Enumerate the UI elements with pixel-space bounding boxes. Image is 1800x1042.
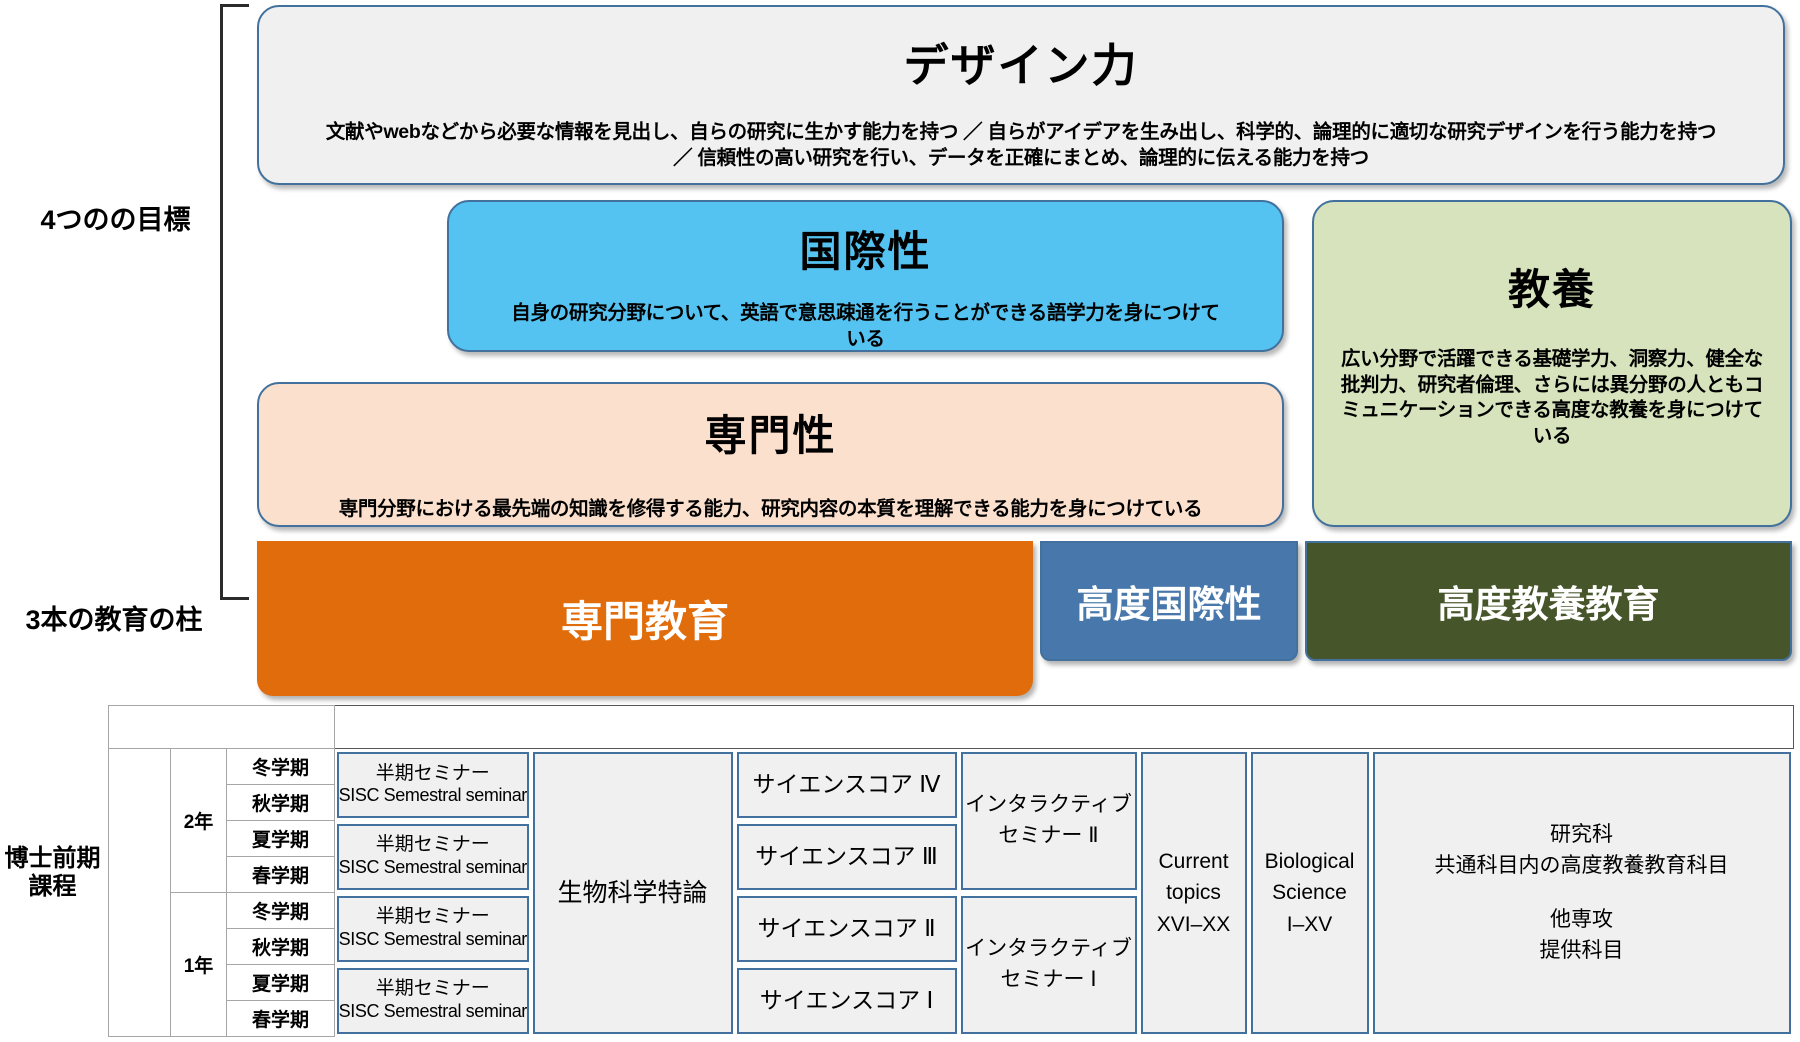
science-core-cell-4: サイエンスコア Ⅳ — [735, 749, 959, 821]
interactive-seminar-cell-2: インタラクティブ セミナー Ⅱ — [959, 749, 1139, 893]
pillar-specialized-education: 専門教育 — [257, 541, 1033, 696]
special-lecture-cell: 生物科学特論 — [531, 749, 735, 1037]
goal-box-speciality: 専門性 専門分野における最先端の知識を修得する能力、研究内容の本質を理解できる能… — [257, 382, 1284, 527]
current-topics-cell: Current topics XVI–XX — [1139, 749, 1249, 1037]
goal-box-internationality: 国際性 自身の研究分野について、英語で意思疎通を行うことができる語学力を身につけ… — [447, 200, 1284, 352]
goal-desc-liberal-arts: 広い分野で活躍できる基礎学力、洞察力、健全な批判力、研究者倫理、さらには異分野の… — [1337, 347, 1767, 450]
section-label-goals: 4つのの目標 — [8, 205, 223, 236]
goal-desc-design: 文献やwebなどから必要な情報を見出し、自らの研究に生かす能力を持つ ／ 自らが… — [316, 120, 1726, 171]
term-cell-1-autumn: 秋学期 — [227, 929, 335, 965]
general-courses-line1: 研究科 — [1550, 819, 1613, 851]
goal-title-speciality: 専門性 — [704, 402, 836, 463]
year-cell-1: 1年 — [171, 893, 227, 1037]
term-cell-2-summer: 夏学期 — [227, 821, 335, 857]
diagram-canvas: 4つのの目標 3本の教育の柱 博士前期 課程 デザイン力 文献やwebなどから必… — [0, 0, 1800, 1042]
thesis-row-spacer — [109, 706, 335, 749]
course-stage-cell — [109, 749, 171, 1037]
chip-general-courses: 研究科 共通科目内の高度教養教育科目 他専攻 提供科目 — [1373, 752, 1791, 1034]
chip-seminar: 半期セミナー SISC Semestral seminar — [337, 968, 529, 1034]
chip-science-core-4: サイエンスコア Ⅳ — [737, 752, 957, 818]
biological-science-line1: Biological — [1265, 846, 1355, 878]
year-cell-2: 2年 — [171, 749, 227, 893]
interactive-seminar-2-line2: セミナー Ⅱ — [998, 821, 1098, 851]
goal-desc-internationality: 自身の研究分野について、英語で意思疎通を行うことができる語学力を身につけている — [506, 301, 1226, 352]
interactive-seminar-1-line1: インタラクティブ — [965, 934, 1132, 964]
term-cell-1-winter: 冬学期 — [227, 893, 335, 929]
table-row: 2年 冬学期 半期セミナー SISC Semestral seminar 生物科… — [109, 749, 1794, 785]
seminar-cell-1-lower: 半期セミナー SISC Semestral seminar — [335, 965, 531, 1037]
science-core-cell-2: サイエンスコア Ⅱ — [735, 893, 959, 965]
seminar-jp: 半期セミナー — [376, 763, 490, 786]
term-cell-1-spring: 春学期 — [227, 1001, 335, 1037]
current-topics-line1: Current — [1159, 846, 1229, 878]
section-label-course: 博士前期 課程 — [0, 845, 105, 900]
seminar-jp: 半期セミナー — [376, 834, 490, 857]
pillar-advanced-liberal-arts: 高度教養教育 — [1305, 541, 1792, 661]
chip-science-core-1: サイエンスコア Ⅰ — [737, 968, 957, 1034]
chip-interactive-seminar-1: インタラクティブ セミナー Ⅰ — [961, 896, 1137, 1034]
table-row: 修士論文 — [109, 706, 1794, 749]
biological-science-line3: I–XV — [1287, 909, 1333, 941]
general-courses-line3: 他専攻 — [1550, 904, 1613, 936]
current-topics-line3: XVI–XX — [1157, 909, 1231, 941]
chip-interactive-seminar-2: インタラクティブ セミナー Ⅱ — [961, 752, 1137, 890]
curriculum-table: 修士論文 2年 冬学期 半期セミナー SISC Semestral semina… — [108, 705, 1794, 1037]
goal-box-design: デザイン力 文献やwebなどから必要な情報を見出し、自らの研究に生かす能力を持つ… — [257, 5, 1785, 185]
chip-special-lecture: 生物科学特論 — [533, 752, 733, 1034]
general-courses-line4: 提供科目 — [1540, 935, 1624, 967]
term-cell-2-autumn: 秋学期 — [227, 785, 335, 821]
chip-seminar: 半期セミナー SISC Semestral seminar — [337, 896, 529, 962]
general-courses-line2: 共通科目内の高度教養教育科目 — [1435, 850, 1729, 882]
seminar-cell-1-upper: 半期セミナー SISC Semestral seminar — [335, 893, 531, 965]
goal-title-design: デザイン力 — [903, 29, 1138, 94]
science-core-cell-3: サイエンスコア Ⅲ — [735, 821, 959, 893]
chip-science-core-3: サイエンスコア Ⅲ — [737, 824, 957, 890]
section-label-pillars: 3本の教育の柱 — [0, 605, 228, 636]
seminar-jp: 半期セミナー — [376, 978, 490, 1001]
interactive-seminar-cell-1: インタラクティブ セミナー Ⅰ — [959, 893, 1139, 1037]
chip-science-core-2: サイエンスコア Ⅱ — [737, 896, 957, 962]
goal-box-liberal-arts: 教養 広い分野で活躍できる基礎学力、洞察力、健全な批判力、研究者倫理、さらには異… — [1312, 200, 1792, 527]
chip-biological-science: Biological Science I–XV — [1251, 752, 1369, 1034]
seminar-en: SISC Semestral seminar — [339, 929, 527, 951]
biological-science-cell: Biological Science I–XV — [1249, 749, 1371, 1037]
goal-title-internationality: 国際性 — [799, 218, 931, 279]
seminar-en: SISC Semestral seminar — [339, 785, 527, 807]
current-topics-line2: topics — [1166, 877, 1221, 909]
course-label-line2: 課程 — [0, 873, 105, 901]
general-courses-cell: 研究科 共通科目内の高度教養教育科目 他専攻 提供科目 — [1371, 749, 1794, 1037]
seminar-en: SISC Semestral seminar — [339, 1001, 527, 1023]
goal-title-liberal-arts: 教養 — [1508, 256, 1596, 317]
pillar-advanced-internationality: 高度国際性 — [1040, 541, 1298, 661]
goal-desc-speciality: 専門分野における最先端の知識を修得する能力、研究内容の本質を理解できる能力を身に… — [271, 497, 1271, 523]
term-cell-1-summer: 夏学期 — [227, 965, 335, 1001]
chip-seminar: 半期セミナー SISC Semestral seminar — [337, 752, 529, 818]
term-cell-2-winter: 冬学期 — [227, 749, 335, 785]
thesis-bar: 修士論文 — [335, 706, 1794, 749]
interactive-seminar-2-line1: インタラクティブ — [965, 790, 1132, 820]
seminar-cell-2-upper: 半期セミナー SISC Semestral seminar — [335, 749, 531, 821]
goals-bracket — [220, 4, 249, 600]
interactive-seminar-1-line2: セミナー Ⅰ — [1001, 965, 1097, 995]
chip-seminar: 半期セミナー SISC Semestral seminar — [337, 824, 529, 890]
biological-science-line2: Science — [1272, 877, 1347, 909]
term-cell-2-spring: 春学期 — [227, 857, 335, 893]
course-label-line1: 博士前期 — [0, 845, 105, 873]
curriculum-table-wrap: 修士論文 2年 冬学期 半期セミナー SISC Semestral semina… — [108, 705, 1793, 1035]
seminar-en: SISC Semestral seminar — [339, 857, 527, 879]
seminar-cell-2-lower: 半期セミナー SISC Semestral seminar — [335, 821, 531, 893]
science-core-cell-1: サイエンスコア Ⅰ — [735, 965, 959, 1037]
chip-current-topics: Current topics XVI–XX — [1141, 752, 1247, 1034]
seminar-jp: 半期セミナー — [376, 906, 490, 929]
